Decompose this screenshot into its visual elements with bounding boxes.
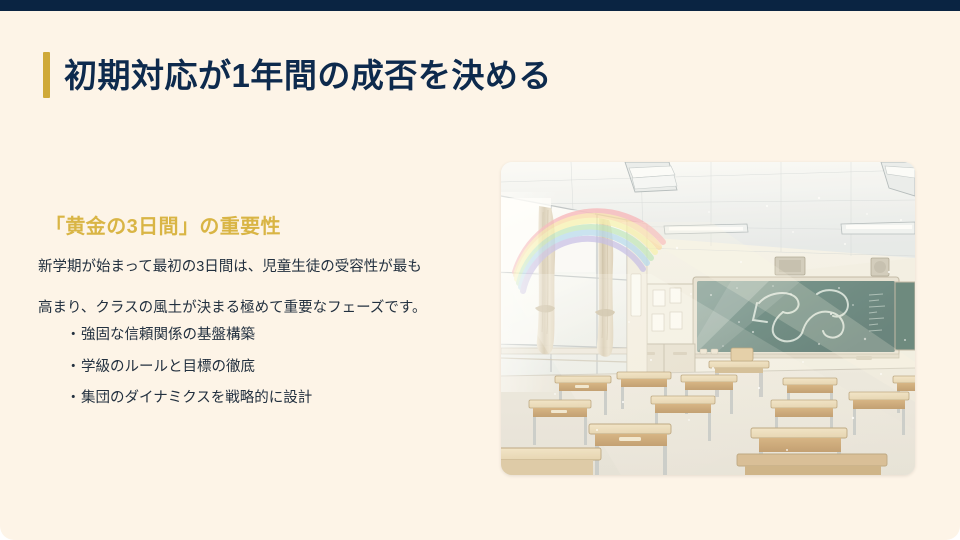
bullet-list: 強固な信頼関係の基盤構築 学級のルールと目標の徹底 集団のダイナミクスを戦略的に…	[38, 328, 458, 406]
content-column: 「黄金の3日間」の重要性 新学期が始まって最初の3日間は、児童生徒の受容性が最も…	[38, 214, 458, 423]
list-item: 学級のルールと目標の徹底	[68, 360, 458, 375]
classroom-illustration-svg	[501, 162, 915, 475]
list-item: 集団のダイナミクスを戦略的に設計	[68, 391, 458, 406]
classroom-illustration	[501, 162, 915, 475]
list-item: 強固な信頼関係の基盤構築	[68, 328, 458, 343]
top-accent-bar	[0, 0, 960, 11]
title-accent-bar	[43, 52, 50, 98]
slide: 初期対応が1年間の成否を決める 「黄金の3日間」の重要性 新学期が始まって最初の…	[0, 0, 960, 540]
section-subheading: 「黄金の3日間」の重要性	[45, 214, 458, 240]
body-paragraph-line-2: 高まり、クラスの風土が決まる極めて重要なフェーズです。	[38, 299, 458, 319]
body-paragraph-line-1: 新学期が始まって最初の3日間は、児童生徒の受容性が最も	[38, 258, 458, 278]
page-title: 初期対応が1年間の成否を決める	[43, 51, 552, 99]
title-text: 初期対応が1年間の成否を決める	[64, 59, 552, 92]
